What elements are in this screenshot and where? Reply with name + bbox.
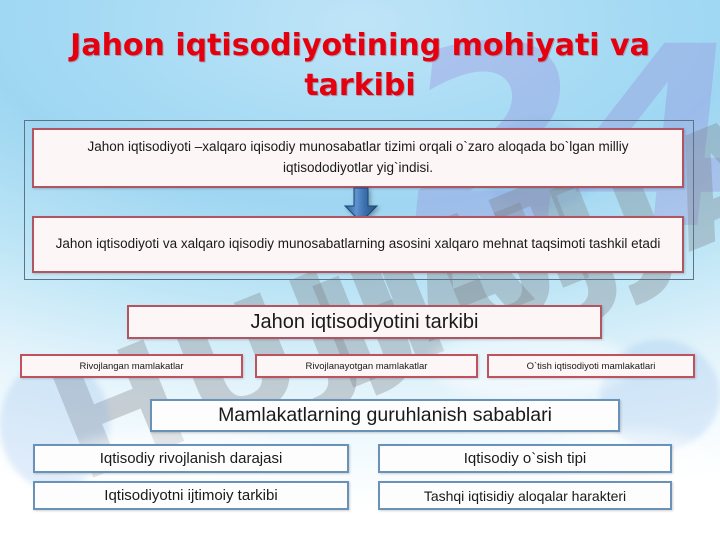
structure-group-developed: Rivojlangan mamlakatlar — [20, 354, 243, 378]
page-title: Jahon iqtisodiyotining mohiyati va tarki… — [40, 26, 680, 106]
reason-item-foreign-relations: Tashqi iqtisidiy aloqalar harakteri — [378, 481, 672, 510]
reason-item-social-structure: Iqtisodiyotni ijtimoiy tarkibi — [33, 481, 349, 510]
reason-item-growth-type: Iqtisodiy o`sish tipi — [378, 444, 672, 473]
structure-group-developing: Rivojlanayotgan mamlakatlar — [255, 354, 478, 378]
definition-statement-2: Jahon iqtisodiyoti va xalqaro iqisodiy m… — [32, 216, 684, 273]
structure-heading: Jahon iqtisodiyotini tarkibi — [127, 305, 602, 339]
definition-statement-1: Jahon iqtisodiyoti –xalqaro iqisodiy mun… — [32, 128, 684, 188]
structure-group-transition: O`tish iqtisodiyoti mamlakatlari — [487, 354, 695, 378]
reasons-heading: Mamlakatlarning guruhlanish sabablari — [150, 399, 620, 432]
reason-item-development-level: Iqtisodiy rivojlanish darajasi — [33, 444, 349, 473]
